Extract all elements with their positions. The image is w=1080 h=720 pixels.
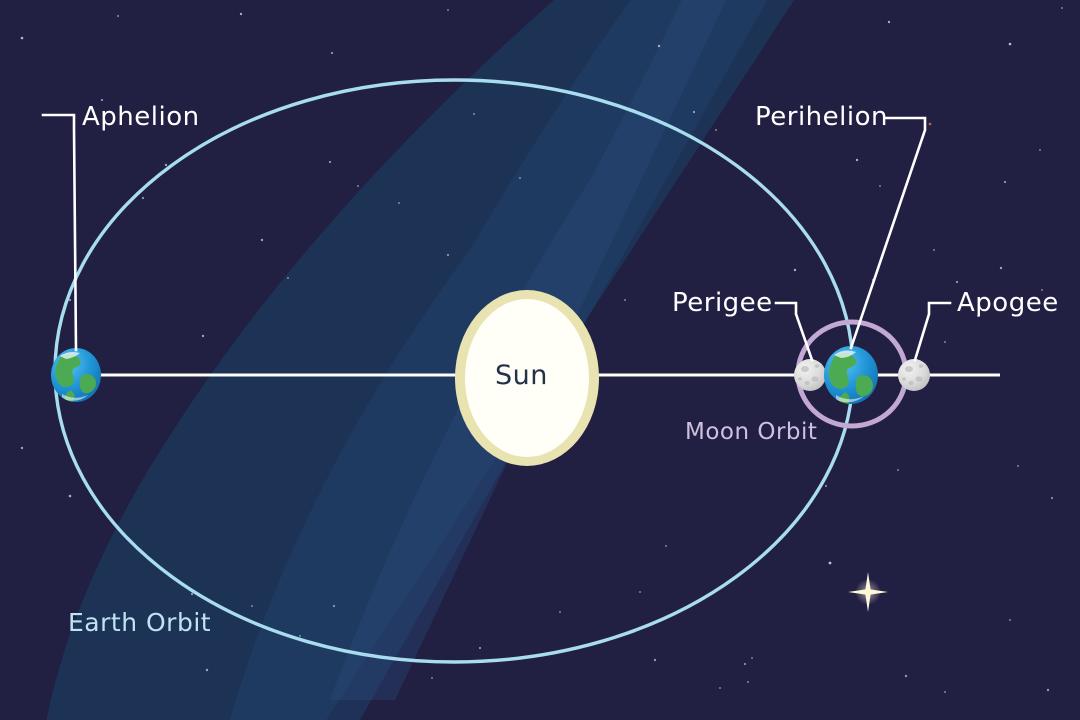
earth-orbit-label: Earth Orbit — [68, 608, 211, 637]
sun-label: Sun — [495, 360, 548, 391]
perihelion-label: Perihelion — [755, 102, 888, 132]
moon-apogee-body — [898, 359, 930, 391]
aphelion-label: Aphelion — [82, 102, 200, 132]
perigee-label: Perigee — [672, 288, 773, 318]
moon-orbit-label: Moon Orbit — [685, 419, 817, 445]
diagram-canvas: Aphelion Perihelion Perigee Apogee Sun E… — [0, 0, 1080, 720]
moon-perigee-body — [794, 359, 826, 391]
apogee-label: Apogee — [957, 288, 1059, 318]
